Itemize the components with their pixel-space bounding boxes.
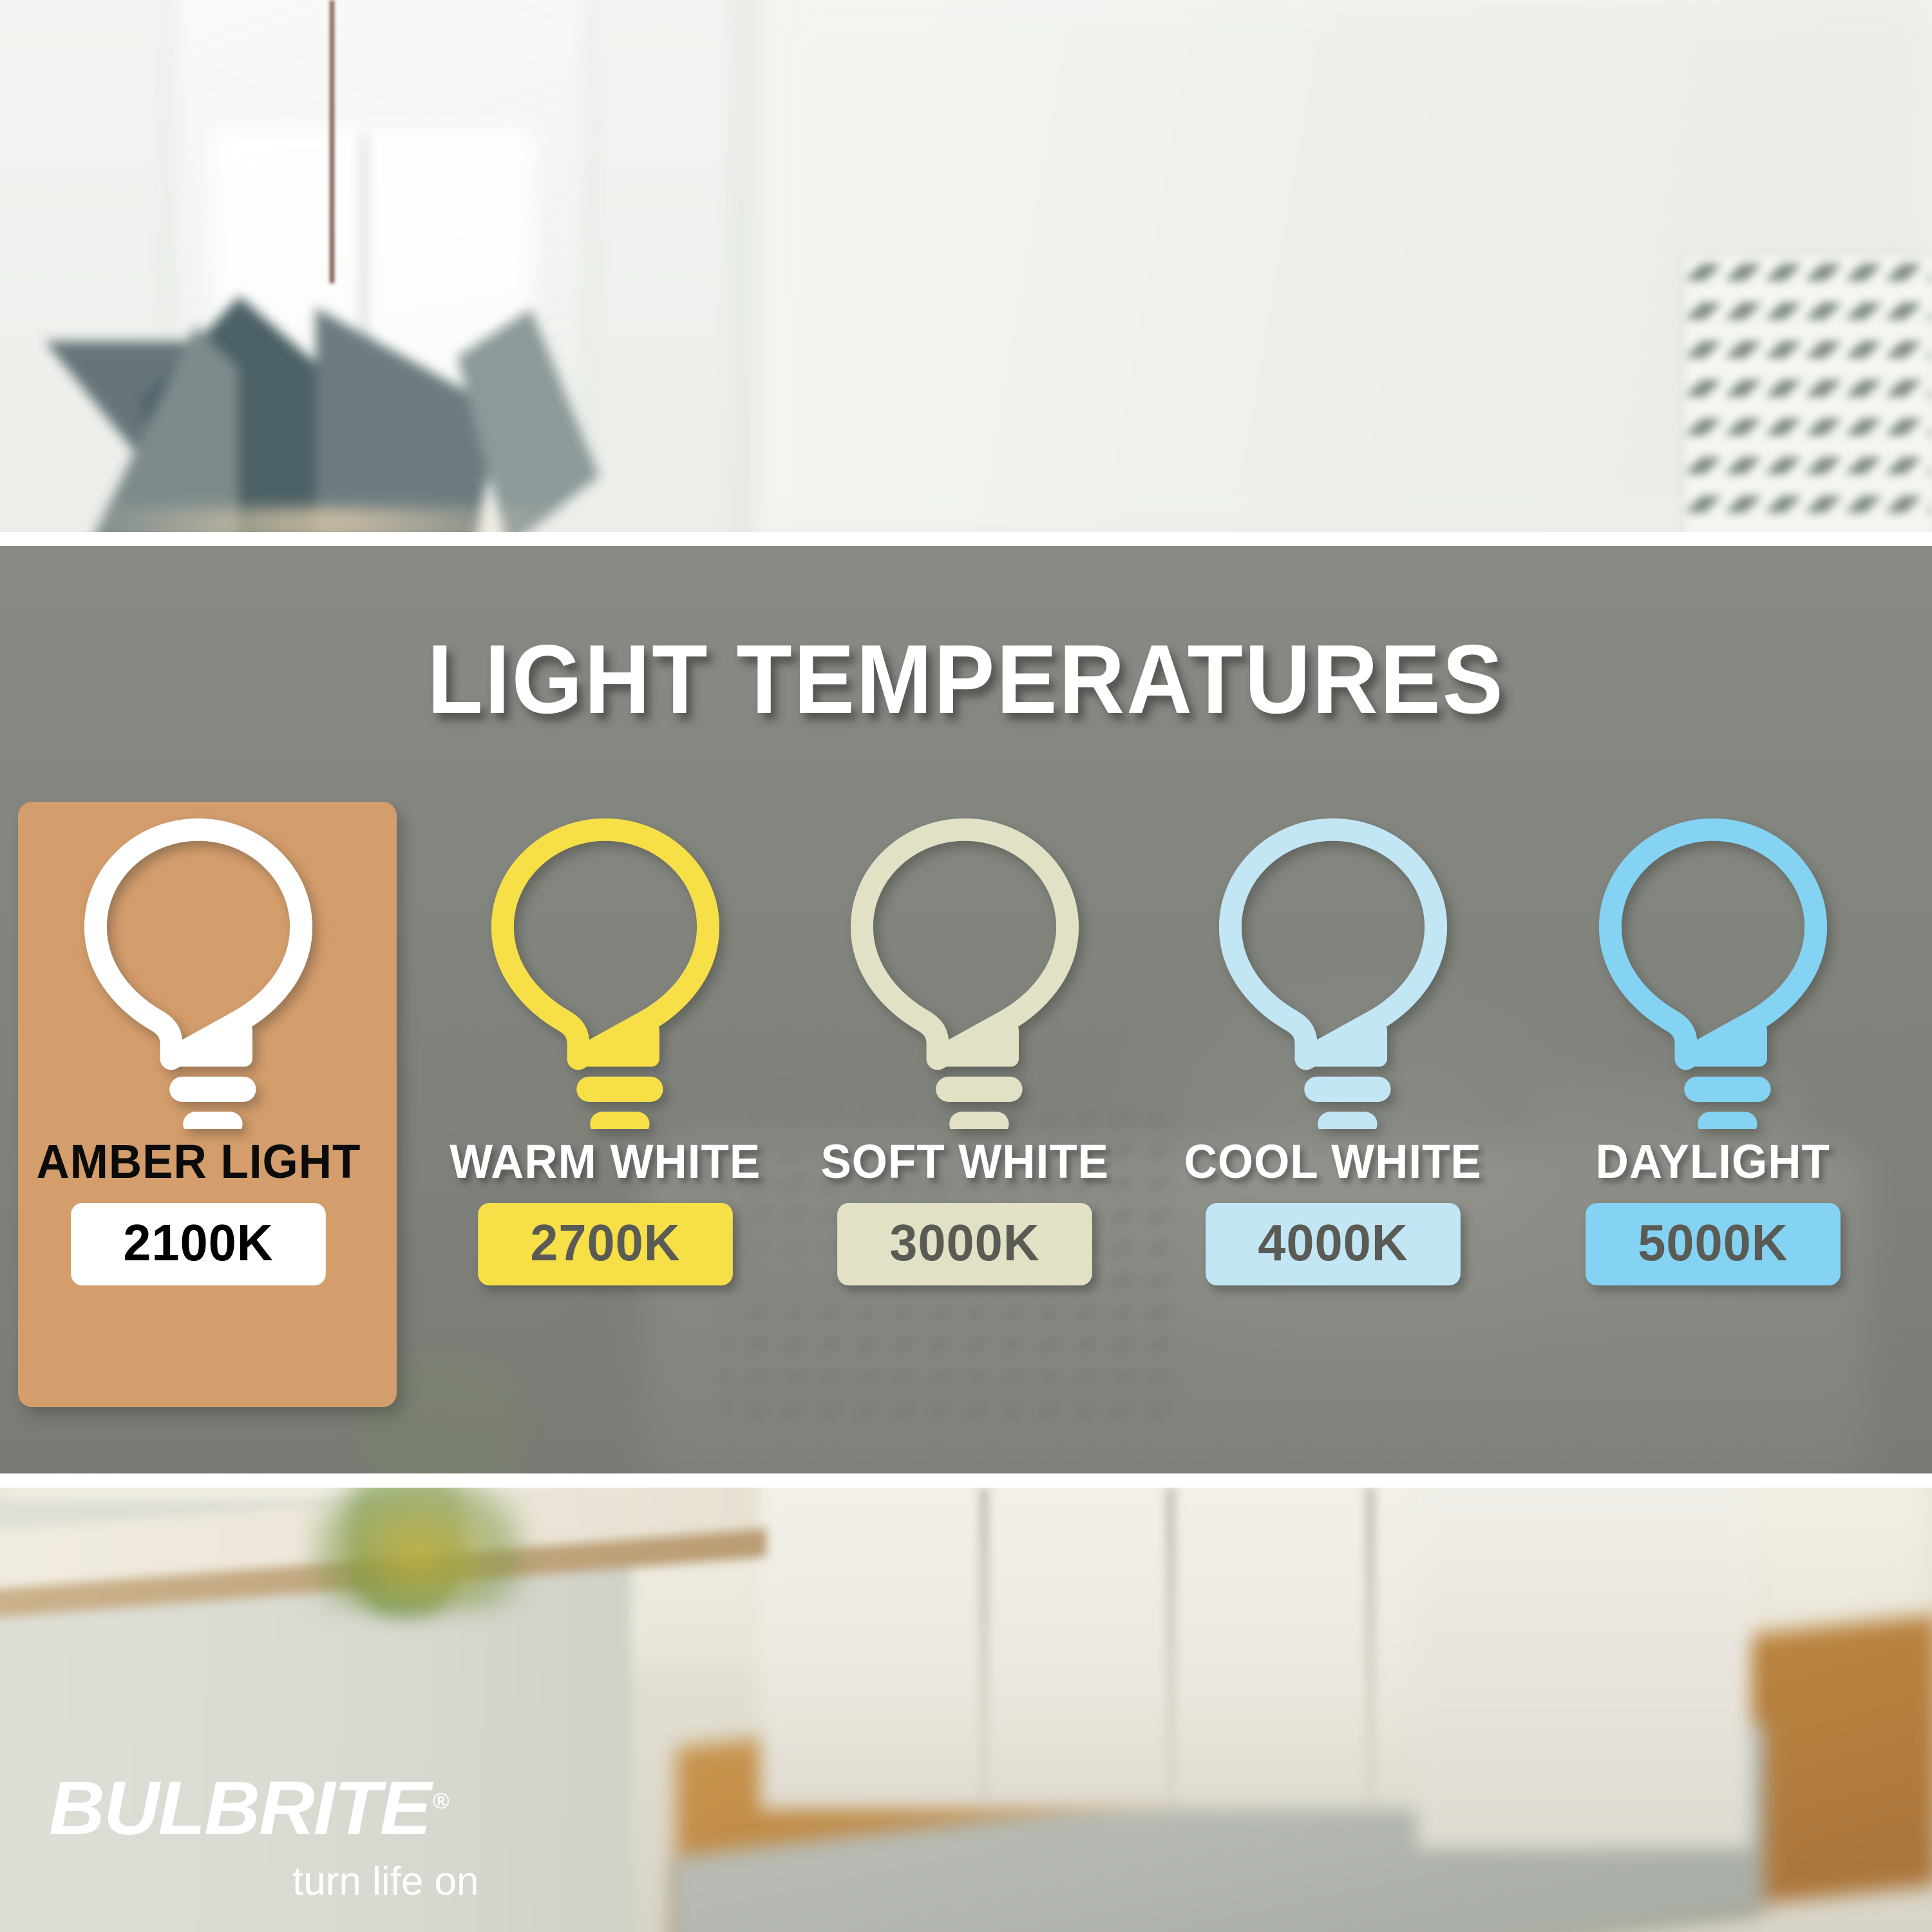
lightbulb-icon [1578, 813, 1848, 1129]
curtain-panel [1417, 1488, 1752, 1848]
pendant-lamp-shade [45, 270, 605, 532]
temperature-label: WARM WHITE [450, 1134, 761, 1189]
temperature-item-soft-white[interactable]: SOFT WHITE 3000K [784, 802, 1145, 1414]
kelvin-badge: 2700K [478, 1203, 733, 1285]
bottom-divider [0, 1473, 1932, 1488]
flower-bloom [309, 1488, 528, 1610]
lightbulb-icon [63, 813, 334, 1129]
temperature-label: COOL WHITE [1184, 1134, 1482, 1189]
top-divider [0, 532, 1932, 546]
door-frame [734, 0, 779, 532]
page-title: LIGHT TEMPERATURES [68, 623, 1864, 736]
pendant-cord [330, 0, 334, 283]
temperature-item-warm-white[interactable]: WARM WHITE 2700K [425, 802, 786, 1414]
temperature-label: SOFT WHITE [820, 1134, 1109, 1189]
infographic-canvas: LIGHT TEMPERATURES AMBER LIGH [0, 0, 1932, 1932]
lightbulb-icon [1198, 813, 1468, 1129]
top-interior-photo [0, 0, 1932, 532]
temperature-label: AMBER LIGHT [36, 1134, 361, 1189]
kelvin-badge: 4000K [1206, 1203, 1461, 1285]
kelvin-badge: 5000K [1586, 1203, 1841, 1285]
kelvin-badge: 2100K [71, 1203, 326, 1285]
temperature-label: DAYLIGHT [1596, 1134, 1830, 1189]
temperature-item-daylight[interactable]: DAYLIGHT 5000K [1533, 802, 1893, 1414]
brand-tagline: turn life on [292, 1859, 479, 1904]
temperature-item-amber-light[interactable]: AMBER LIGHT 2100K [18, 802, 379, 1414]
lightbulb-icon [470, 813, 741, 1129]
chevron-artwork [1687, 258, 1932, 532]
kelvin-badge: 3000K [837, 1203, 1092, 1285]
pendant-glow [77, 509, 567, 532]
brand-logo[interactable]: BULBRITE® turn life on [53, 1765, 542, 1919]
temperature-item-cool-white[interactable]: COOL WHITE 4000K [1153, 802, 1513, 1414]
lightbulb-icon [829, 813, 1100, 1129]
temperature-row: AMBER LIGHT 2100K WARM WHITE [0, 802, 1932, 1414]
